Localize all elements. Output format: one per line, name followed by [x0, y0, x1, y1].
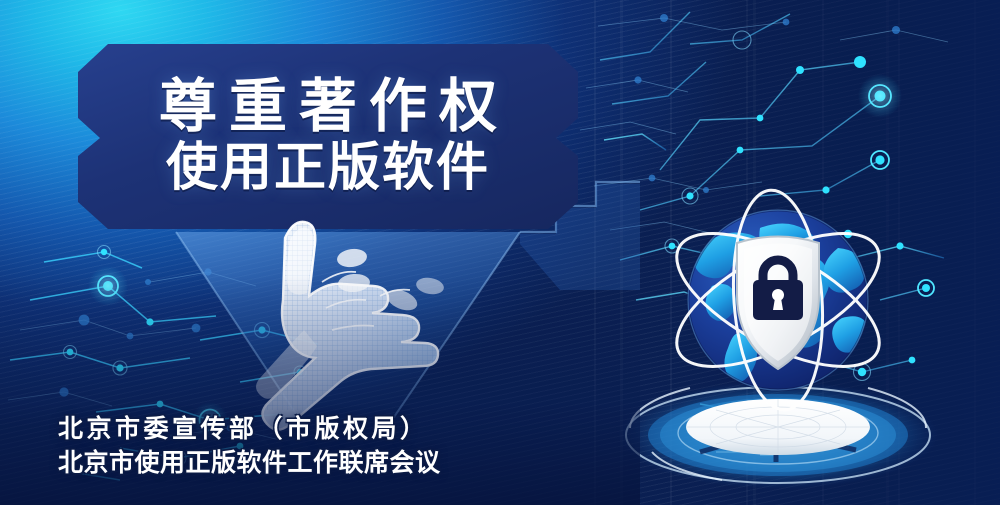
- banner-titles: 尊重著作权 使用正版软件: [78, 44, 578, 229]
- title-banner: 尊重著作权 使用正版软件: [78, 44, 578, 229]
- footer-organizations: 北京市委宣传部（市版权局） 北京市使用正版软件工作联席会议: [58, 413, 441, 480]
- shield-with-padlock: [737, 237, 819, 370]
- footer-line-2: 北京市使用正版软件工作联席会议: [58, 447, 441, 481]
- platform: [618, 381, 938, 489]
- padlock-icon: [753, 260, 803, 320]
- title-line-2: 使用正版软件: [166, 139, 490, 197]
- poster-canvas: 尊重著作权 使用正版软件: [0, 0, 1000, 505]
- right-vignette: [670, 0, 1000, 505]
- orbital-rings: [658, 187, 899, 413]
- title-line-1: 尊重著作权: [147, 76, 509, 137]
- globe: [658, 187, 899, 413]
- footer-line-1: 北京市委宣传部（市版权局）: [58, 413, 441, 447]
- vertical-light-bars: [580, 0, 1000, 505]
